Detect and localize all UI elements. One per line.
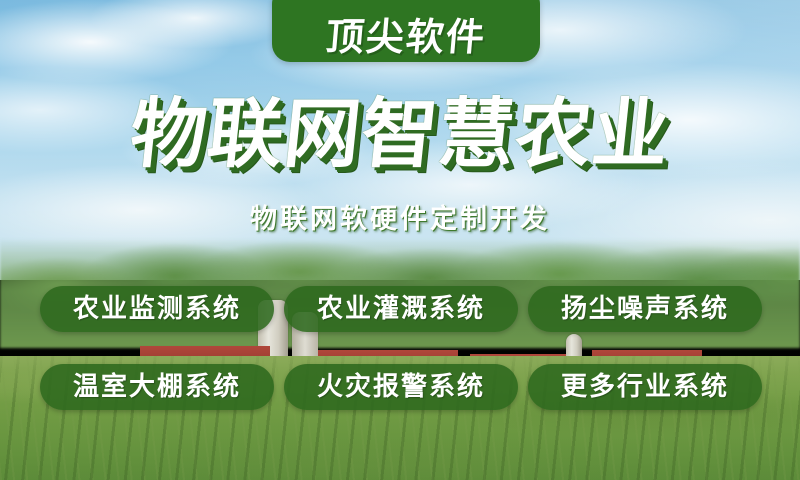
pill-label: 更多行业系统: [561, 374, 729, 400]
pill-label: 农业监测系统: [73, 296, 241, 322]
pill-label: 扬尘噪声系统: [561, 296, 729, 322]
headline-title: 物联网智慧农业: [0, 96, 800, 172]
subtitle-text: 物联网软硬件定制开发: [0, 206, 800, 233]
pill-label: 火灾报警系统: [317, 374, 485, 400]
pill-button-agri-irrigation[interactable]: 农业灌溉系统: [284, 286, 518, 332]
brand-logo-text: 顶尖软件: [324, 18, 487, 56]
system-button-grid: 农业监测系统 农业灌溉系统 扬尘噪声系统 温室大棚系统 火灾报警系统 更多行业系…: [40, 286, 762, 410]
pill-label: 温室大棚系统: [73, 374, 241, 400]
pill-button-more-systems[interactable]: 更多行业系统: [528, 364, 762, 410]
pill-button-fire-alarm[interactable]: 火灾报警系统: [284, 364, 518, 410]
iot-smart-agriculture-banner: 顶尖软件 物联网智慧农业 物联网软硬件定制开发 农业监测系统 农业灌溉系统 扬尘…: [0, 0, 800, 480]
brand-logo-badge[interactable]: 顶尖软件: [272, 0, 540, 62]
pill-button-agri-monitoring[interactable]: 农业监测系统: [40, 286, 274, 332]
pill-label: 农业灌溉系统: [317, 296, 485, 322]
pill-button-greenhouse[interactable]: 温室大棚系统: [40, 364, 274, 410]
pill-button-dust-noise[interactable]: 扬尘噪声系统: [528, 286, 762, 332]
